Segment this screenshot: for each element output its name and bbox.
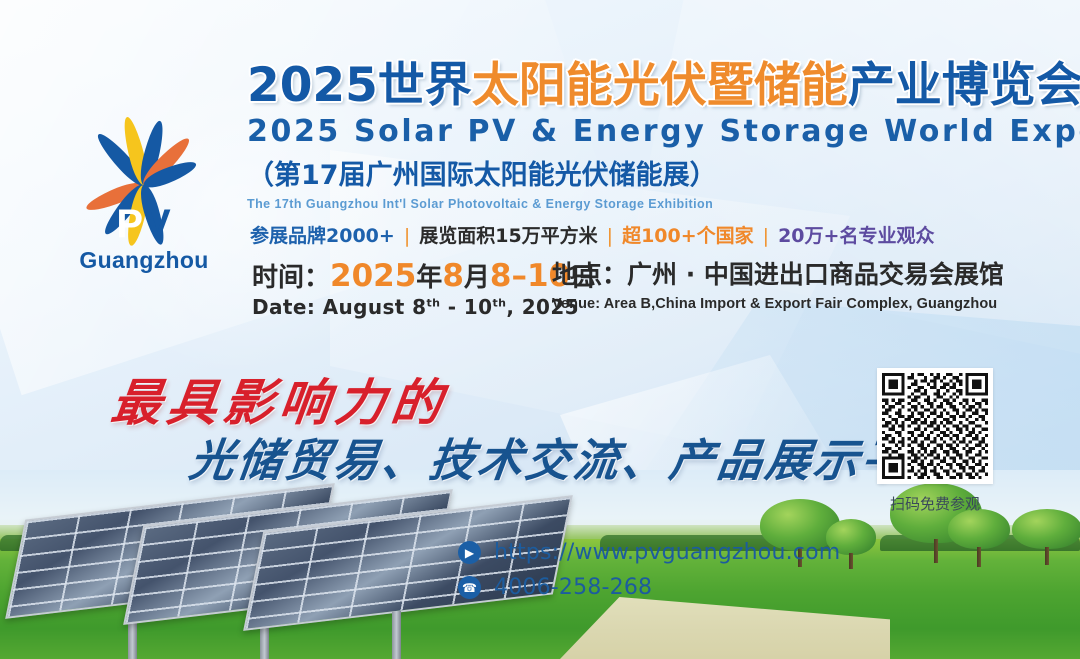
date-en-dash: - — [448, 295, 457, 319]
date-block: 时间：2025年8月8–10日 Date: August 8th - 10th,… — [252, 258, 596, 319]
date-year: 2025 — [330, 258, 416, 294]
main-title-en: 2025 Solar PV & Energy Storage World Exp… — [247, 114, 1047, 149]
date-en: Date: August 8th - 10th, 2025 — [252, 295, 596, 319]
qr-block: 扫码免费参观 — [877, 368, 993, 514]
date-en-sup2: th — [492, 296, 506, 309]
venue-label-cn: 地点： — [552, 260, 627, 289]
title-segment-2: 太阳能光伏暨 — [472, 58, 754, 113]
title-segment-3: 储能 — [754, 58, 848, 113]
header-block: 2025世界太阳能光伏暨储能产业博览会 2025 Solar PV & Ener… — [247, 62, 1047, 211]
stat-separator: | — [404, 225, 410, 247]
date-en-day2: 10 — [464, 295, 493, 319]
stat-item-countries: 超100+个国家 — [622, 225, 754, 247]
tree-trunk — [1045, 547, 1049, 565]
subtitle-cn: （第17届广州国际太阳能光伏储能展） — [247, 153, 1047, 192]
tree — [1012, 509, 1080, 565]
subtitle-en: The 17th Guangzhou Int'l Solar Photovolt… — [247, 197, 1047, 211]
contact-block: ▶ https://www.pvguangzhou.com ☎ 4006-258… — [458, 540, 840, 610]
tree — [948, 509, 1010, 567]
date-year-unit: 年 — [416, 263, 442, 293]
logo-city-text: Guangzhou — [52, 247, 236, 274]
play-circle-icon: ▶ — [458, 541, 481, 564]
main-title-cn: 2025世界太阳能光伏暨储能产业博览会 — [247, 62, 1047, 111]
qr-caption: 扫码免费参观 — [877, 493, 993, 514]
panel-pole — [392, 611, 401, 659]
qr-code[interactable] — [877, 368, 993, 484]
venue-en: Venue: Area B,China Import & Export Fair… — [552, 296, 1004, 312]
stat-item-area: 展览面积15万平方米 — [419, 225, 597, 247]
tree-crown — [1012, 509, 1080, 549]
venue-value-cn: 广州 · 中国进出口商品交易会展馆 — [627, 260, 1004, 289]
qr-code-svg — [882, 373, 988, 479]
website-text[interactable]: https://www.pvguangzhou.com — [494, 540, 840, 565]
date-label-en: Date: — [252, 295, 315, 319]
stat-separator: | — [763, 225, 769, 247]
title-segment-4: 产业博览会 — [848, 58, 1080, 113]
date-label-cn: 时间： — [252, 263, 330, 293]
tree-trunk — [934, 539, 938, 563]
website-row[interactable]: ▶ https://www.pvguangzhou.com — [458, 540, 840, 565]
date-en-day1: 8 — [412, 295, 426, 319]
date-month-unit: 月 — [464, 263, 490, 293]
slogan-line-2: 光储贸易、技术交流、产品展示平台! — [186, 424, 985, 489]
tree-trunk — [849, 553, 853, 569]
tree-crown — [948, 509, 1010, 549]
date-cn: 时间：2025年8月8–10日 — [252, 258, 596, 295]
stats-strip: 参展品牌2000+|展览面积15万平方米|超100+个国家|20万+名专业观众 — [250, 221, 934, 248]
logo-letter-p: P — [116, 204, 144, 244]
logo-letter-v: V — [144, 204, 172, 244]
date-month: 8 — [442, 258, 464, 294]
stat-item-brands: 参展品牌2000+ — [250, 225, 395, 247]
logo-pv-text: PV — [52, 204, 236, 244]
expo-promo-banner: PV Guangzhou 2025世界太阳能光伏暨储能产业博览会 2025 So… — [0, 0, 1080, 659]
date-en-month: August — [323, 295, 405, 319]
stat-item-visitors: 20万+名专业观众 — [778, 225, 934, 247]
date-en-sup1: th — [426, 296, 440, 309]
phone-text[interactable]: 4006-258-268 — [494, 575, 652, 600]
pv-guangzhou-logo: PV Guangzhou — [52, 96, 236, 274]
stat-separator: | — [607, 225, 613, 247]
phone-icon: ☎ — [458, 576, 481, 599]
venue-block: 地点：广州 · 中国进出口商品交易会展馆 Venue: Area B,China… — [552, 260, 1004, 312]
tree-trunk — [977, 547, 981, 567]
venue-cn: 地点：广州 · 中国进出口商品交易会展馆 — [552, 260, 1004, 290]
title-segment-1: 2025世界 — [247, 58, 472, 113]
solar-panel-array — [10, 499, 530, 659]
phone-row[interactable]: ☎ 4006-258-268 — [458, 575, 840, 600]
